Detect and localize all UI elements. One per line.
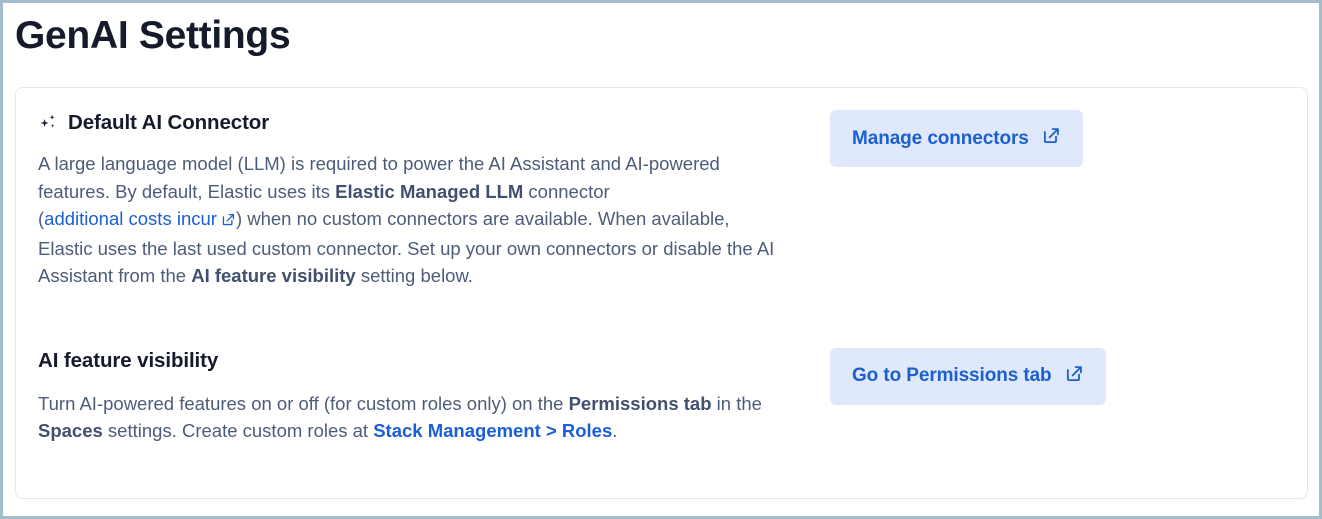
section-description-default-ai-connector: A large language model (LLM) is required… — [38, 150, 778, 290]
page-header: GenAI Settings — [3, 3, 1319, 81]
description-part-4: . — [612, 420, 617, 441]
page-title: GenAI Settings — [15, 9, 1319, 63]
stack-management-roles-link[interactable]: Stack Management > Roles — [373, 420, 612, 441]
genai-settings-page: GenAI Settings Default AI Connector — [0, 0, 1322, 519]
section-text-block: AI feature visibility Turn AI-powered fe… — [38, 348, 778, 445]
manage-connectors-button-label: Manage connectors — [852, 128, 1029, 150]
description-part-4: setting below. — [356, 265, 473, 286]
section-heading-default-ai-connector: Default AI Connector — [38, 110, 778, 136]
section-action-ai-feature-visibility: Go to Permissions tab — [778, 348, 1285, 405]
manage-connectors-button[interactable]: Manage connectors — [830, 110, 1083, 167]
external-link-icon — [1042, 126, 1061, 151]
sparkles-icon — [38, 113, 58, 133]
description-bold-spaces: Spaces — [38, 420, 103, 441]
go-to-permissions-tab-button[interactable]: Go to Permissions tab — [830, 348, 1106, 405]
go-to-permissions-tab-button-label: Go to Permissions tab — [852, 365, 1052, 387]
additional-costs-link-label: additional costs incur — [44, 208, 217, 229]
additional-costs-link[interactable]: additional costs incur — [44, 208, 236, 229]
description-part-1: Turn AI-powered features on or off (for … — [38, 393, 569, 414]
section-heading-label: Default AI Connector — [68, 110, 269, 136]
description-bold-ai-feature-visibility: AI feature visibility — [191, 265, 356, 286]
description-bold-elastic-managed-llm: Elastic Managed LLM — [335, 181, 523, 202]
section-default-ai-connector: Default AI Connector A large language mo… — [38, 110, 1285, 290]
description-bold-permissions-tab: Permissions tab — [569, 393, 712, 414]
description-part-3: settings. Create custom roles at — [103, 420, 373, 441]
external-link-icon — [1065, 364, 1084, 389]
section-heading-label: AI feature visibility — [38, 348, 218, 374]
section-action-default-ai-connector: Manage connectors — [778, 110, 1285, 167]
description-part-2: in the — [712, 393, 762, 414]
section-text-block: Default AI Connector A large language mo… — [38, 110, 778, 290]
settings-card: Default AI Connector A large language mo… — [15, 87, 1308, 499]
section-ai-feature-visibility: AI feature visibility Turn AI-powered fe… — [38, 348, 1285, 445]
section-description-ai-feature-visibility: Turn AI-powered features on or off (for … — [38, 390, 778, 445]
external-link-icon — [221, 207, 236, 235]
section-heading-ai-feature-visibility: AI feature visibility — [38, 348, 778, 374]
